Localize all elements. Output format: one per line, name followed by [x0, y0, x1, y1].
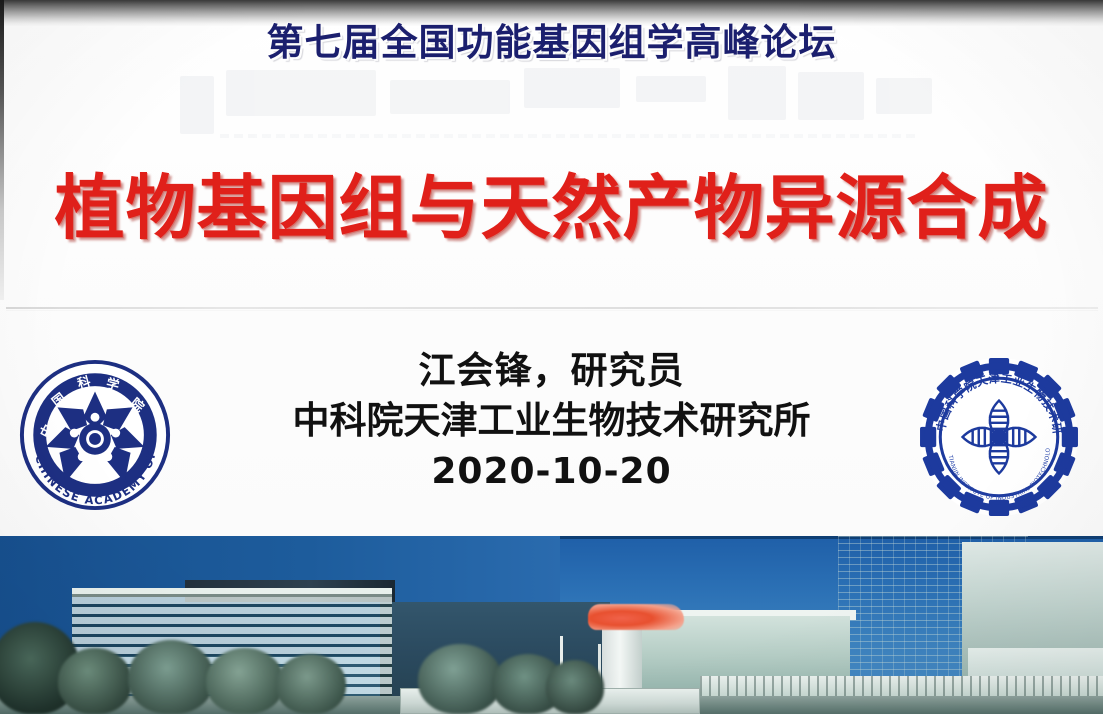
section-divider-highlight	[6, 310, 1098, 311]
ghost-background-imagery	[180, 66, 940, 144]
tree	[58, 648, 132, 714]
presentation-date: 2020-10-20	[0, 446, 1103, 498]
speaker-organization: 中科院天津工业生物技术研究所	[0, 396, 1103, 446]
speaker-name: 江会锋，研究员	[0, 346, 1103, 396]
tree	[206, 648, 284, 714]
presentation-slide: 第七届全国功能基因组学高峰论坛 植物基因组与天然产物异源合成 中 国 科 学 院	[0, 0, 1103, 714]
forum-header-title: 第七届全国功能基因组学高峰论坛	[0, 12, 1103, 66]
section-divider	[6, 307, 1098, 309]
tree	[276, 654, 346, 714]
presentation-main-title: 植物基因组与天然产物异源合成	[0, 152, 1103, 253]
institute-building-photo	[0, 536, 1103, 714]
tree	[128, 640, 214, 714]
speaker-info-block: 江会锋，研究员 中科院天津工业生物技术研究所 2020-10-20	[0, 346, 1103, 498]
tree	[418, 644, 502, 714]
red-flag	[588, 604, 684, 630]
tree	[546, 660, 604, 714]
